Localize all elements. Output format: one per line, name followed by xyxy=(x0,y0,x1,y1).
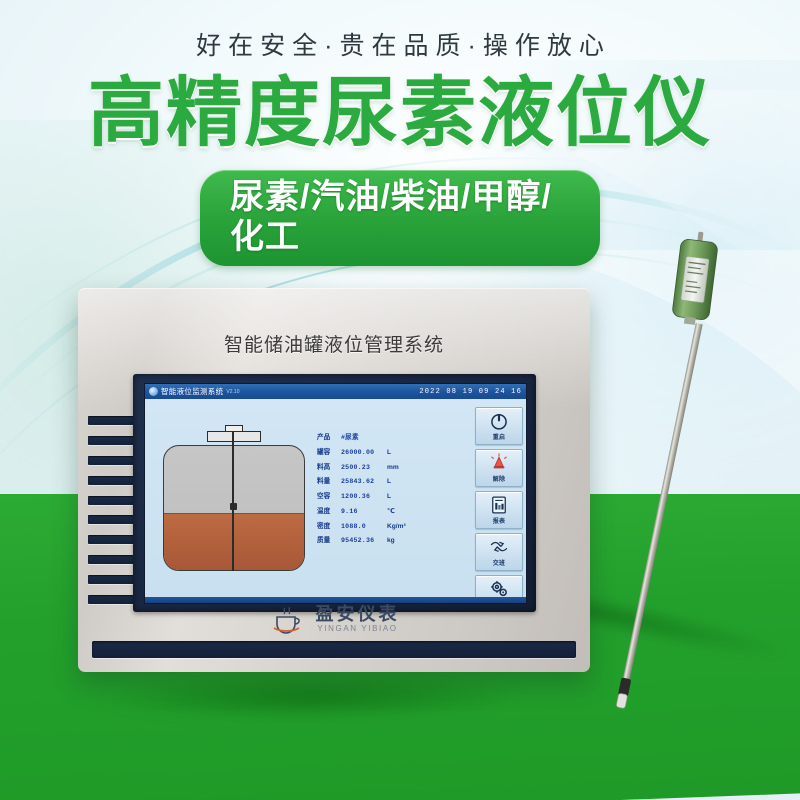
readout-unit: L xyxy=(387,450,391,457)
alarm-bell-icon xyxy=(488,453,510,473)
coffee-cup-icon xyxy=(269,604,309,634)
screen-bezel: 智能液位监测系统 V2.10 2022 08 19 09 24 16 xyxy=(133,374,536,612)
tagline: 好在安全·贵在品质·操作放心 xyxy=(0,26,800,62)
restart-button-label: 重启 xyxy=(493,432,506,441)
system-name: 智能液位监测系统 xyxy=(161,386,223,397)
enclosure-bottom-strip xyxy=(92,641,576,658)
datetime-display: 2022 08 19 09 24 16 xyxy=(419,388,522,396)
readout-value: 95452.36 xyxy=(341,538,387,545)
app-logo-icon xyxy=(149,387,158,396)
tank-flange xyxy=(207,431,261,442)
readout-row: 料高 2500.23 mm xyxy=(317,465,437,472)
readout-value: 26000.00 xyxy=(341,450,387,457)
tank-liquid-fill xyxy=(164,514,304,570)
hmi-screen[interactable]: 智能液位监测系统 V2.10 2022 08 19 09 24 16 xyxy=(144,383,527,604)
shift-handover-icon xyxy=(488,537,510,557)
readout-label: 料量 xyxy=(317,479,341,486)
readout-value: 1200.36 xyxy=(341,494,387,501)
applications-badge-label: 尿素/汽油/柴油/甲醇/化工 xyxy=(230,177,570,257)
hmi-body: 产品 #尿素 罐容 26000.00 L 料高 250 xyxy=(145,399,526,603)
applications-badge: 尿素/汽油/柴油/甲醇/化工 xyxy=(200,170,600,266)
brand-logo: 盈安仪表 YINGAN YIBIAO xyxy=(78,604,590,634)
probe-float-icon xyxy=(230,503,237,510)
tank-liquid-surface xyxy=(164,513,304,515)
readout-label: 料高 xyxy=(317,465,341,472)
readout-unit: ℃ xyxy=(387,509,395,516)
readout-label: 质量 xyxy=(317,538,341,545)
readout-unit: mm xyxy=(387,465,399,472)
readout-value: #尿素 xyxy=(341,435,387,442)
readout-row: 密度 1088.0 Kg/m³ xyxy=(317,524,437,531)
readout-row: 产品 #尿素 xyxy=(317,435,437,442)
device-shadow xyxy=(83,674,537,720)
readout-row: 质量 95452.36 kg xyxy=(317,538,437,545)
tank-diagram xyxy=(163,423,303,575)
titlebar-left: 智能液位监测系统 V2.10 xyxy=(149,386,239,397)
power-icon xyxy=(488,411,510,431)
hmi-titlebar: 智能液位监测系统 V2.10 2022 08 19 09 24 16 xyxy=(145,384,526,399)
readout-value: 25843.62 xyxy=(341,479,387,486)
readout-label: 温度 xyxy=(317,509,341,516)
readout-label: 罐容 xyxy=(317,450,341,457)
measurement-readout: 产品 #尿素 罐容 26000.00 L 料高 250 xyxy=(317,435,437,553)
report-button[interactable]: 报表 xyxy=(475,491,523,529)
brand-name-en: YINGAN YIBIAO xyxy=(317,625,397,633)
shift-handover-button-label: 交班 xyxy=(493,558,506,567)
restart-button[interactable]: 重启 xyxy=(475,407,523,445)
readout-unit: kg xyxy=(387,538,395,545)
brand-name-cn: 盈安仪表 xyxy=(316,605,400,623)
probe-rod-icon xyxy=(232,431,234,571)
readout-row: 空容 1200.36 L xyxy=(317,494,437,501)
readout-value: 9.16 xyxy=(341,509,387,516)
hmi-scrollbar[interactable] xyxy=(145,597,526,603)
readout-unit: L xyxy=(387,494,391,501)
readout-unit: Kg/m³ xyxy=(387,524,406,531)
alarm-clear-button-label: 解除 xyxy=(493,474,506,483)
readout-label: 产品 xyxy=(317,435,341,442)
brand-text: 盈安仪表 YINGAN YIBIAO xyxy=(316,605,400,633)
report-button-label: 报表 xyxy=(493,516,506,525)
gears-icon xyxy=(488,579,510,599)
shift-handover-button[interactable]: 交班 xyxy=(475,533,523,571)
enclosure-panel-title: 智能储油罐液位管理系统 xyxy=(78,330,590,357)
readout-label: 密度 xyxy=(317,524,341,531)
report-icon xyxy=(488,495,510,515)
readout-value: 1088.0 xyxy=(341,524,387,531)
page-title: 高精度尿素液位仪 xyxy=(0,72,800,156)
alarm-clear-button[interactable]: 解除 xyxy=(475,449,523,487)
readout-row: 料量 25843.62 L xyxy=(317,479,437,486)
advertisement-canvas: 好在安全·贵在品质·操作放心 高精度尿素液位仪 尿素/汽油/柴油/甲醇/化工 智… xyxy=(0,0,800,800)
readout-unit: L xyxy=(387,479,391,486)
hmi-button-column: 重启 xyxy=(475,407,521,604)
readout-row: 温度 9.16 ℃ xyxy=(317,509,437,516)
system-version: V2.10 xyxy=(226,389,239,395)
readout-label: 空容 xyxy=(317,494,341,501)
readout-row: 罐容 26000.00 L xyxy=(317,450,437,457)
readout-value: 2500.23 xyxy=(341,465,387,472)
device-enclosure: 智能储油罐液位管理系统 智能液位监 xyxy=(78,288,590,672)
